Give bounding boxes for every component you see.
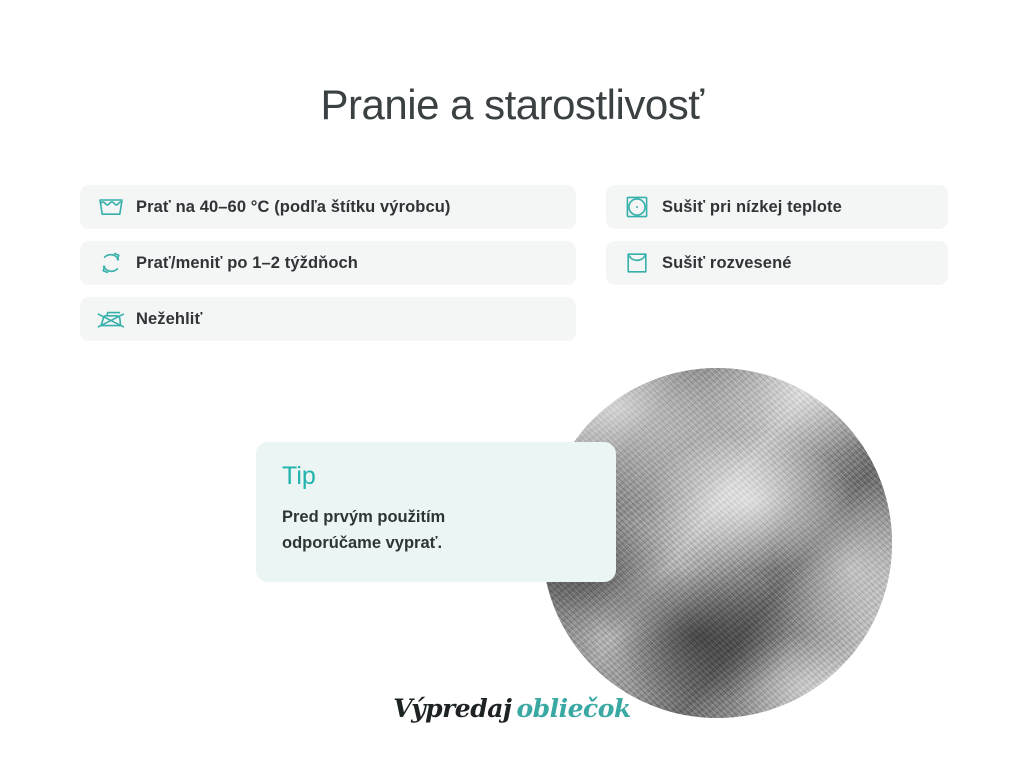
care-item-label: Sušiť rozvesené bbox=[662, 254, 792, 273]
tumble-dry-low-icon bbox=[620, 192, 654, 222]
brand-logo-word-accent: obliečok bbox=[516, 694, 630, 723]
care-item-label: Prať/meniť po 1–2 týždňoch bbox=[136, 254, 358, 273]
care-item-wash-frequency: Prať/meniť po 1–2 týždňoch bbox=[80, 241, 576, 285]
care-item-tumble-dry-low: Sušiť pri nízkej teplote bbox=[606, 185, 948, 229]
care-item-wash-temperature: Prať na 40–60 °C (podľa štítku výrobcu) bbox=[80, 185, 576, 229]
brand-logo: Výpredajobliečok bbox=[0, 694, 1024, 723]
tip-heading: Tip bbox=[282, 464, 590, 489]
care-instructions-page: Pranie a starostlivosť Prať na 40–60 °C … bbox=[0, 0, 1024, 768]
care-item-no-ironing: Nežehliť bbox=[80, 297, 576, 341]
wash-tub-icon bbox=[94, 192, 128, 222]
tip-body: Pred prvým použitím odporúčame vyprať. bbox=[282, 505, 532, 556]
care-column-left: Prať na 40–60 °C (podľa štítku výrobcu) … bbox=[80, 185, 576, 353]
page-title: Pranie a starostlivosť bbox=[0, 80, 1024, 130]
care-column-right: Sušiť pri nízkej teplote Sušiť rozvesené bbox=[606, 185, 948, 297]
brand-logo-word-primary: Výpredaj bbox=[393, 694, 511, 723]
tip-card: Tip Pred prvým použitím odporúčame vypra… bbox=[256, 442, 616, 582]
refresh-cycle-icon bbox=[94, 248, 128, 278]
care-item-label: Sušiť pri nízkej teplote bbox=[662, 198, 842, 217]
no-iron-icon bbox=[94, 304, 128, 334]
care-item-line-dry: Sušiť rozvesené bbox=[606, 241, 948, 285]
care-item-label: Prať na 40–60 °C (podľa štítku výrobcu) bbox=[136, 198, 451, 217]
care-item-label: Nežehliť bbox=[136, 310, 202, 329]
line-dry-icon bbox=[620, 248, 654, 278]
